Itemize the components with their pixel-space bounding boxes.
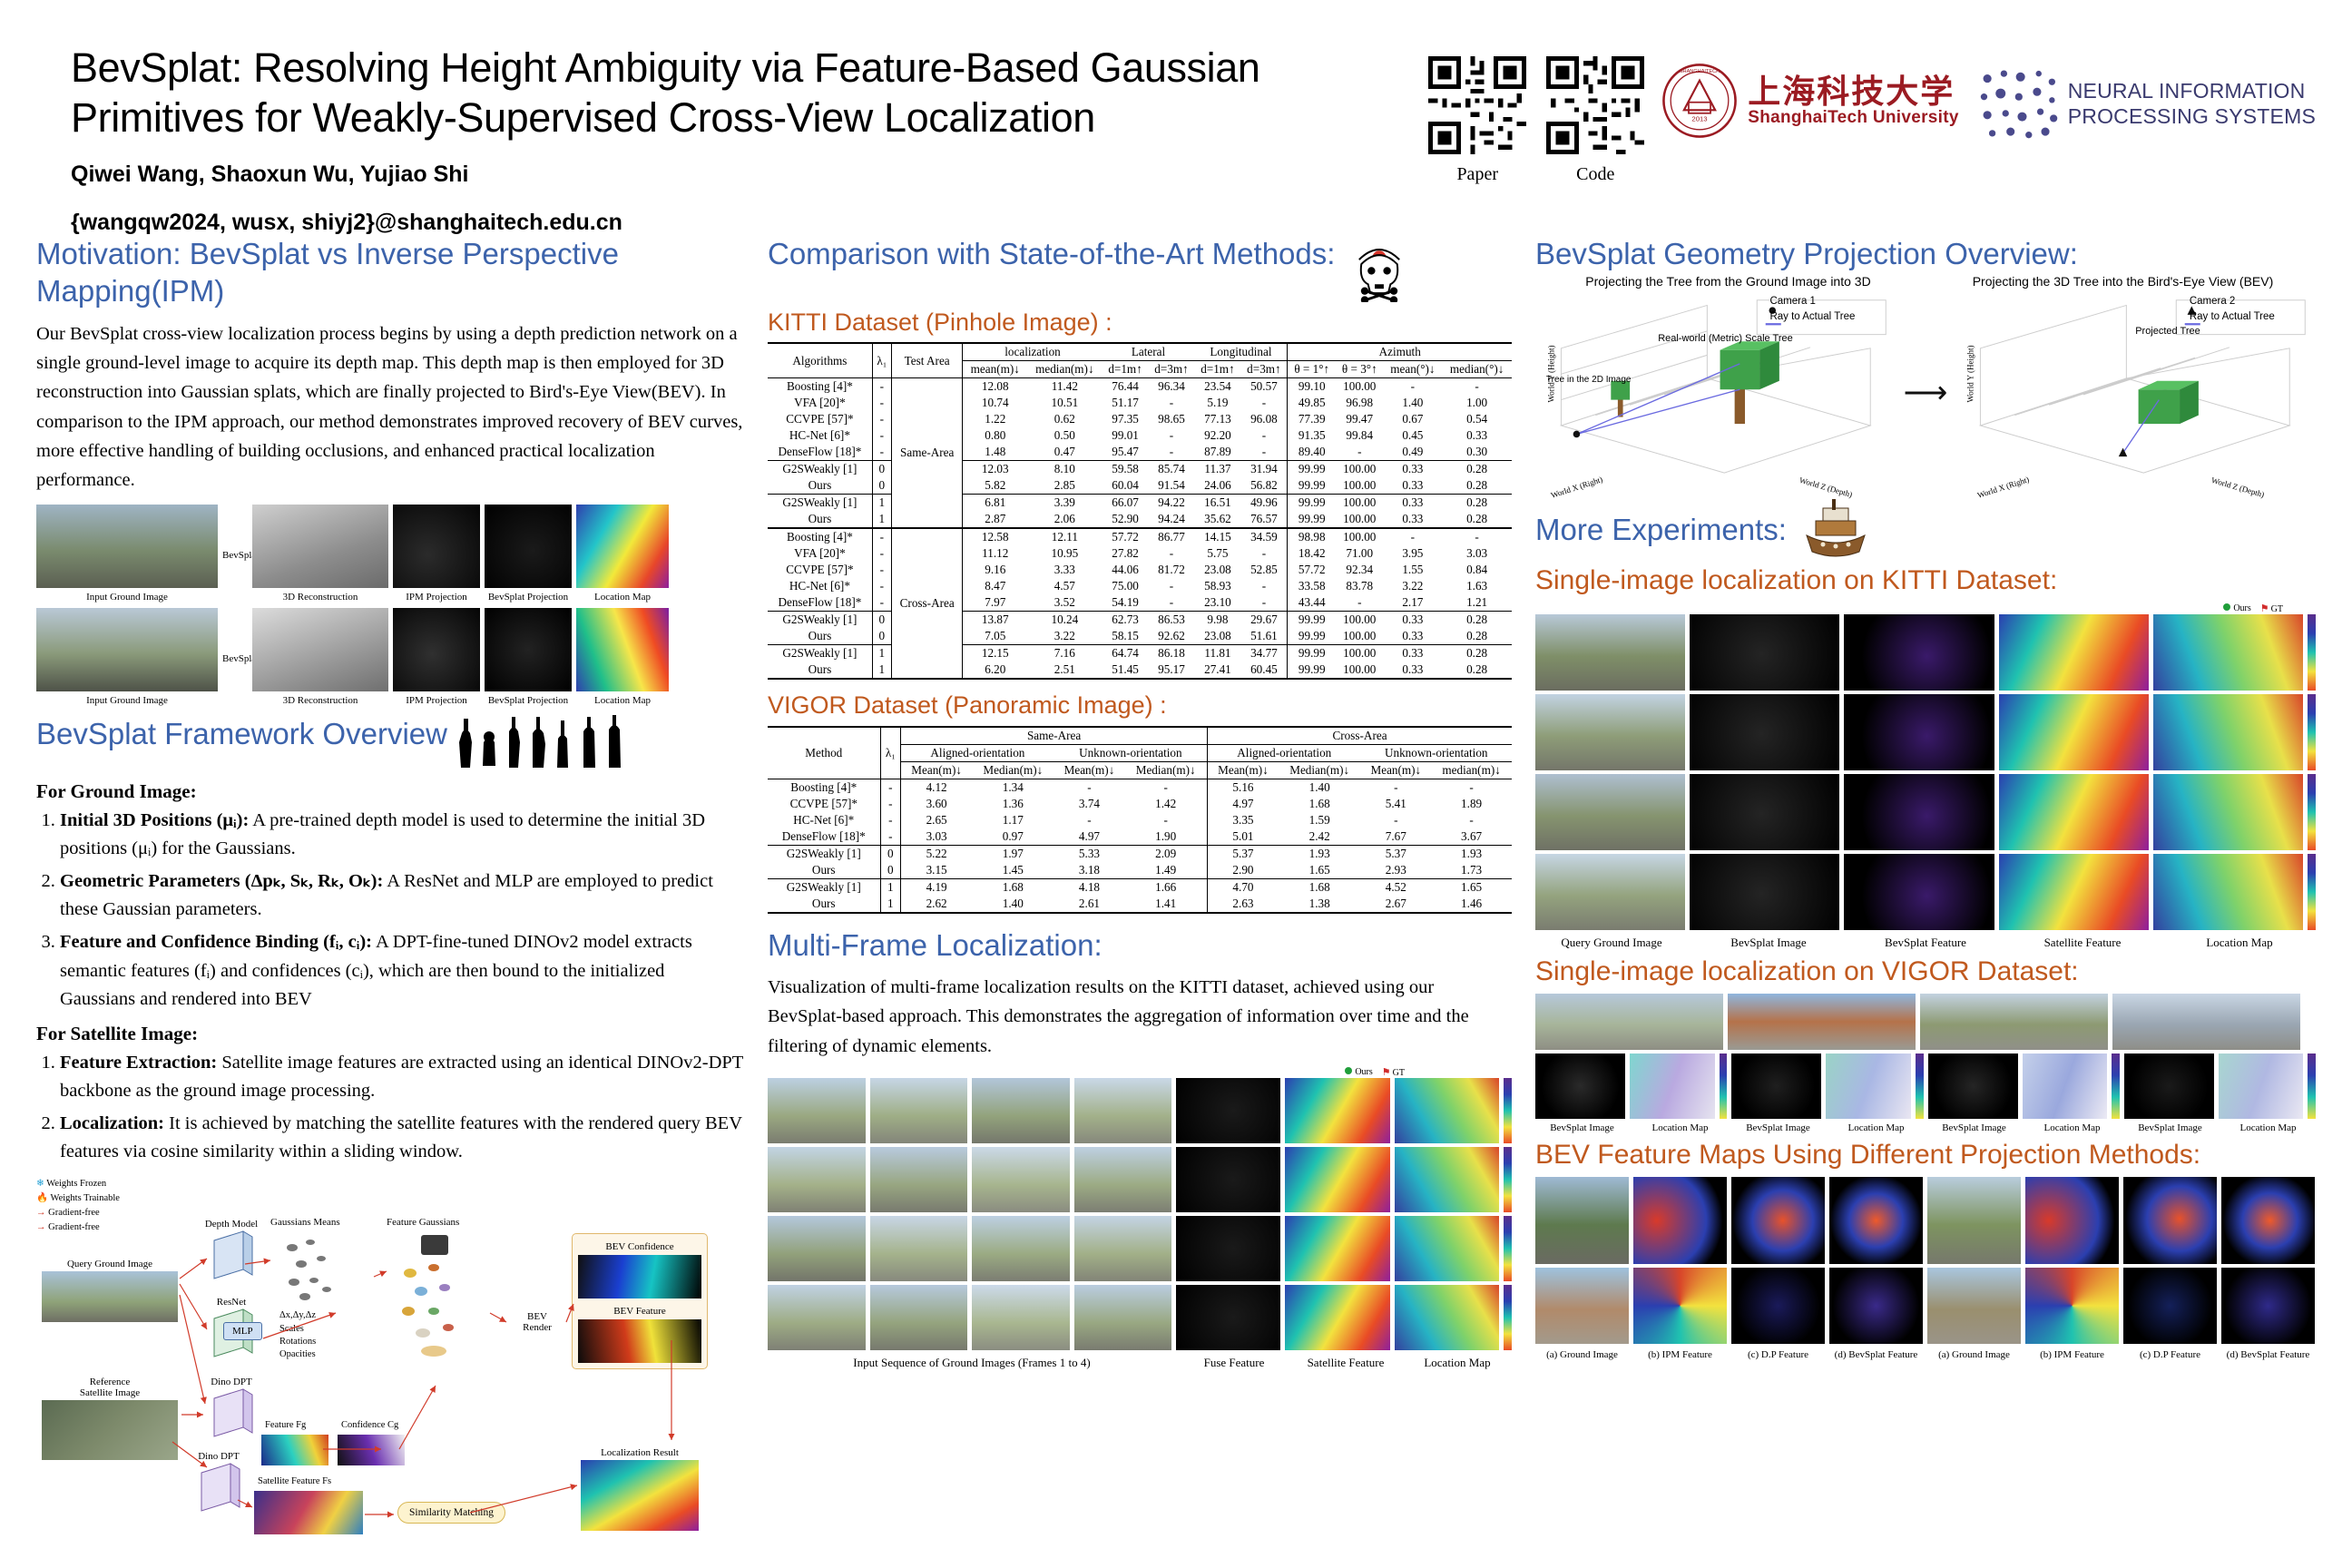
vigor-table-body: Boosting [4]*-4.121.34--5.161.40--CCVPE … xyxy=(768,779,1512,913)
location-map-thumb xyxy=(576,505,669,588)
cell-value: 1.34 xyxy=(972,779,1054,796)
cell-value: 23.54 xyxy=(1194,378,1240,396)
motivation-heading: Motivation: BevSplat vs Inverse Perspect… xyxy=(36,235,744,310)
satellite-image-steps: Feature Extraction: Satellite image feat… xyxy=(36,1049,744,1167)
multiframe-satellite-feature-thumb xyxy=(1285,1285,1389,1350)
vigor-group-unknown-1: Unknown-orientation xyxy=(1054,744,1208,761)
cell-algorithm: G2SWeakly [1] xyxy=(768,461,872,478)
kitti-group-longitudinal: Longitudinal xyxy=(1194,343,1287,361)
neurips-dot-pattern-icon xyxy=(1975,65,2059,142)
kitti-colorbar xyxy=(2308,614,2316,691)
cell-value: 100.00 xyxy=(1336,511,1384,528)
bev-method-thumb xyxy=(1829,1177,1923,1264)
university-name-cn: 上海科技大学 xyxy=(1748,74,1959,109)
cell-value: 99.99 xyxy=(1288,511,1336,528)
satellite-image-subheading: For Satellite Image: xyxy=(36,1023,744,1045)
cap-query-ground: Query Ground Image xyxy=(1535,936,1688,950)
cell-lambda: 1 xyxy=(880,878,901,896)
cell-value: 52.90 xyxy=(1102,511,1149,528)
multiframe-fuse-feature-thumb xyxy=(1176,1078,1280,1143)
vigor-table-heading: VIGOR Dataset (Panoramic Image) : xyxy=(768,691,1512,720)
neurips-line1: NEURAL INFORMATION xyxy=(2068,78,2316,103)
cell-value: 34.77 xyxy=(1240,645,1288,662)
cell-value: 5.41 xyxy=(1360,796,1431,812)
kitti-bevsplat-image-thumb xyxy=(1690,854,1839,930)
cell-value: 91.35 xyxy=(1288,427,1336,444)
multiframe-satellite-feature-thumb xyxy=(1285,1147,1389,1212)
cell-value: 1.59 xyxy=(1279,812,1361,828)
vigor-cap-4: BevSplat Image xyxy=(1927,1122,2021,1133)
vigor-bevsplat-image-thumb xyxy=(2124,1053,2214,1119)
cell-value: 9.16 xyxy=(963,562,1027,578)
cell-value: 12.03 xyxy=(963,461,1027,478)
cell-value: 86.77 xyxy=(1149,528,1195,545)
cell-value: - xyxy=(1336,594,1384,612)
cell-method: Boosting [4]* xyxy=(768,779,880,796)
multiframe-ground-thumb xyxy=(1074,1216,1172,1281)
kitti-bevsplat-image-thumb xyxy=(1690,774,1839,850)
cell-value: 1.93 xyxy=(1431,845,1512,862)
cell-algorithm: VFA [20]* xyxy=(768,395,872,411)
cell-value: 5.16 xyxy=(1208,779,1279,796)
cell-value: - xyxy=(1240,444,1288,461)
crowd-silhouette-icon xyxy=(456,715,629,771)
cell-value: 1.41 xyxy=(1124,896,1207,913)
cell-value: 100.00 xyxy=(1336,378,1384,396)
cell-value: 6.20 xyxy=(963,661,1027,679)
multiframe-fuse-feature-thumb xyxy=(1176,1216,1280,1281)
vigor-cap-3: Location Map xyxy=(1829,1122,1923,1133)
neurips-text-block: NEURAL INFORMATION PROCESSING SYSTEMS xyxy=(2068,78,2316,129)
kitti-sub-theta1: θ = 1°↑ xyxy=(1288,361,1336,378)
table-row: HC-Net [6]*-8.474.5775.00-58.93-33.5883.… xyxy=(768,578,1512,594)
table-row: Ours12.621.402.611.412.631.382.671.46 xyxy=(768,896,1512,913)
table-row: CCVPE [57]*-3.601.363.741.424.971.685.41… xyxy=(768,796,1512,812)
cell-value: 96.98 xyxy=(1336,395,1384,411)
multiframe-row xyxy=(768,1078,1512,1143)
cell-value: 71.00 xyxy=(1336,545,1384,562)
table-row: G2SWeakly [1]16.813.3966.0794.2216.5149.… xyxy=(768,495,1512,512)
cell-method: G2SWeakly [1] xyxy=(768,845,880,862)
cell-value: 3.67 xyxy=(1431,828,1512,846)
cell-value: 99.01 xyxy=(1102,427,1149,444)
cell-value: 60.04 xyxy=(1102,477,1149,495)
geometry-label-projected-tree: Projected Tree xyxy=(2135,326,2200,337)
cell-value: 54.19 xyxy=(1102,594,1149,612)
cell-method: G2SWeakly [1] xyxy=(768,878,880,896)
cell-value: 0.28 xyxy=(1442,461,1512,478)
multiframe-ground-thumb xyxy=(1074,1285,1172,1350)
cell-value: 7.16 xyxy=(1027,645,1102,662)
author-emails: {wangqw2024, wusx, shiyj2}@shanghaitech.… xyxy=(71,210,1428,236)
header-title-block: BevSplat: Resolving Height Ambiguity via… xyxy=(36,31,1428,236)
cell-value: 11.37 xyxy=(1194,461,1240,478)
cell-value: 51.17 xyxy=(1102,395,1149,411)
table-row: Ours05.822.8560.0491.5424.0656.8299.9910… xyxy=(768,477,1512,495)
cell-lambda: - xyxy=(872,378,891,396)
cell-value: 85.74 xyxy=(1149,461,1195,478)
cell-lambda: 0 xyxy=(872,461,891,478)
geometry-legend-right-ray: Ray to Actual Tree xyxy=(2190,309,2275,325)
qr-paper-label: Paper xyxy=(1428,164,1526,185)
cell-value: - xyxy=(1149,427,1195,444)
ground-step-3: Feature and Confidence Binding (fᵢ, cᵢ):… xyxy=(60,928,744,1013)
kitti-colorbar xyxy=(2308,694,2316,770)
cell-value: 1.45 xyxy=(972,862,1054,879)
caption-3d-reconstruction: 3D Reconstruction xyxy=(252,592,388,603)
table-row: VFA [20]*-11.1210.9527.82-5.75-18.4271.0… xyxy=(768,545,1512,562)
cell-lambda: - xyxy=(872,411,891,427)
cell-value: 16.51 xyxy=(1194,495,1240,512)
cell-algorithm: HC-Net [6]* xyxy=(768,578,872,594)
multiframe-ground-thumb xyxy=(768,1285,866,1350)
geometry-legend-right-camera: Camera 2 xyxy=(2190,294,2275,309)
cell-value: 4.57 xyxy=(1027,578,1102,594)
vigor-single-heading: Single-image localization on VIGOR Datas… xyxy=(1535,955,2316,988)
cell-value: 99.99 xyxy=(1288,661,1336,679)
pipeline-diagram: ❄ Weights Frozen 🔥 Weights Trainable → G… xyxy=(36,1177,744,1540)
cell-value: 1.65 xyxy=(1431,878,1512,896)
cell-value: 94.24 xyxy=(1149,511,1195,528)
multiframe-colorbar xyxy=(1504,1078,1512,1143)
cell-value: 77.13 xyxy=(1194,411,1240,427)
kitti-sub-az-mean: mean(°)↓ xyxy=(1384,361,1443,378)
vigor-pano-row xyxy=(1535,994,2316,1050)
cell-value: 0.62 xyxy=(1027,411,1102,427)
cap-bevsplat-image: BevSplat Image xyxy=(1692,936,1845,950)
satellite-step-2: Localization: It is achieved by matching… xyxy=(60,1110,744,1166)
university-name-block: 上海科技大学 ShanghaiTech University xyxy=(1748,74,1959,127)
cell-value: 2.67 xyxy=(1360,896,1431,913)
kitti-single-row xyxy=(1535,854,2316,930)
kitti-sub-lon-d3: d=3m↑ xyxy=(1240,361,1288,378)
cell-value: 66.07 xyxy=(1102,495,1149,512)
cell-value: - xyxy=(1240,594,1288,612)
caption-location-map-2: Location Map xyxy=(576,695,669,706)
kitti-colorbar xyxy=(2308,854,2316,930)
cell-value: 0.67 xyxy=(1384,411,1443,427)
cell-value: 94.22 xyxy=(1149,495,1195,512)
qr-code-icon[interactable] xyxy=(1546,56,1644,154)
caption-bevsplat-projection: BevSplat Projection xyxy=(485,592,572,603)
cell-value: 2.06 xyxy=(1027,511,1102,528)
qr-code[interactable]: Code xyxy=(1546,56,1644,185)
cell-value: 100.00 xyxy=(1336,495,1384,512)
satellite-step-1-title: Feature Extraction: xyxy=(60,1053,217,1073)
cell-value: - xyxy=(1240,578,1288,594)
kitti-bevsplat-feature-thumb xyxy=(1844,774,1994,850)
multiframe-location-map-thumb xyxy=(1395,1147,1499,1212)
cell-value: 23.10 xyxy=(1194,594,1240,612)
multiframe-row xyxy=(768,1147,1512,1212)
cell-value: 3.60 xyxy=(901,796,972,812)
cell-value: 62.73 xyxy=(1102,612,1149,629)
cell-algorithm: Boosting [4]* xyxy=(768,378,872,396)
cell-value: 33.58 xyxy=(1288,578,1336,594)
cell-lambda: 1 xyxy=(872,495,891,512)
cell-method: Ours xyxy=(768,896,880,913)
kitti-col-test-area: Test Area xyxy=(891,343,963,378)
cell-value: 49.85 xyxy=(1288,395,1336,411)
caption-ipm-projection-2: IPM Projection xyxy=(393,695,480,706)
multiframe-colorbar xyxy=(1504,1285,1512,1350)
cell-value: 0.28 xyxy=(1442,645,1512,662)
cell-value: 57.72 xyxy=(1102,528,1149,545)
cell-value: - xyxy=(1054,812,1125,828)
table-row: Boosting [4]*-Cross-Area12.5812.1157.728… xyxy=(768,528,1512,545)
caption-ipm-projection: IPM Projection xyxy=(393,592,480,603)
kitti-sub-theta3: θ = 3°↑ xyxy=(1336,361,1384,378)
university-seal-icon: 2013 SHANGHAITECH xyxy=(1661,62,1739,140)
qr-paper[interactable]: Paper xyxy=(1428,56,1526,185)
cell-value: 100.00 xyxy=(1336,661,1384,679)
pirate-skull-icon xyxy=(1346,235,1413,302)
geometry-legend-left-camera: Camera 1 xyxy=(1769,294,1855,309)
multiframe-ground-thumb xyxy=(870,1216,968,1281)
cell-lambda: - xyxy=(872,562,891,578)
bevm-cap-1: (b) IPM Feature xyxy=(1633,1349,1727,1360)
kitti-legend-gt-label: GT xyxy=(2271,604,2283,614)
cell-value: 0.33 xyxy=(1384,495,1443,512)
bev-method-thumb xyxy=(1829,1268,1923,1344)
vigor-metric-2: Mean(m)↓ xyxy=(1054,761,1125,779)
cell-value: 51.61 xyxy=(1240,628,1288,645)
cell-lambda: 1 xyxy=(872,645,891,662)
cap-location-map: Location Map xyxy=(2163,936,2316,950)
cell-value: 1.89 xyxy=(1431,796,1512,812)
vigor-colorbar xyxy=(1916,1053,1924,1119)
cell-value: 2.61 xyxy=(1054,896,1125,913)
table-row: Ours16.202.5151.4595.1727.4160.4599.9910… xyxy=(768,661,1512,679)
cell-lambda: - xyxy=(872,444,891,461)
kitti-group-lateral: Lateral xyxy=(1102,343,1195,361)
legend-ours-label: Ours xyxy=(1355,1067,1372,1077)
cell-value: 11.12 xyxy=(963,545,1027,562)
cell-value: 8.47 xyxy=(963,578,1027,594)
bev-methods-row xyxy=(1535,1268,2316,1344)
cell-value: 1.97 xyxy=(972,845,1054,862)
cell-value: 58.93 xyxy=(1194,578,1240,594)
vigor-bevsplat-image-thumb xyxy=(1928,1053,2018,1119)
cell-value: 5.33 xyxy=(1054,845,1125,862)
arrow-right-big-icon: ⟶ xyxy=(1904,375,1948,411)
kitti-single-rows xyxy=(1535,614,2316,930)
cell-value: 58.15 xyxy=(1102,628,1149,645)
author-list: Qiwei Wang, Shaoxun Wu, Yujiao Shi xyxy=(71,162,1428,188)
cell-lambda: 0 xyxy=(880,845,901,862)
kitti-bevsplat-feature-thumb xyxy=(1844,854,1994,930)
cell-value: 1.40 xyxy=(1384,395,1443,411)
cell-value: 11.81 xyxy=(1194,645,1240,662)
cell-value: 76.57 xyxy=(1240,511,1288,528)
multiframe-colorbar xyxy=(1504,1147,1512,1212)
cell-value: - xyxy=(1149,444,1195,461)
cell-method: CCVPE [57]* xyxy=(768,796,880,812)
bev-method-thumb xyxy=(2123,1177,2217,1264)
cell-value: 6.81 xyxy=(963,495,1027,512)
geometry-figure: Camera 1 Ray to Actual Tree Real-world (… xyxy=(1535,289,2316,497)
cell-value: 98.65 xyxy=(1149,411,1195,427)
multiframe-fuse-feature-thumb xyxy=(1176,1147,1280,1212)
qr-paper-icon[interactable] xyxy=(1428,56,1526,154)
cell-value: 0.28 xyxy=(1442,661,1512,679)
bevm-cap-3: (d) BevSplat Feature xyxy=(1829,1349,1923,1360)
vigor-metric-1: Median(m)↓ xyxy=(972,761,1054,779)
kitti-location-map-thumb xyxy=(2153,774,2303,850)
multiframe-ground-thumb xyxy=(972,1285,1070,1350)
multiframe-satellite-feature-thumb xyxy=(1285,1216,1389,1281)
caption-input-ground-image-2: Input Ground Image xyxy=(36,695,218,706)
multiframe-fuse-feature-thumb xyxy=(1176,1285,1280,1350)
cell-value: - xyxy=(1336,444,1384,461)
cell-algorithm: G2SWeakly [1] xyxy=(768,645,872,662)
multiframe-ground-thumb xyxy=(1074,1147,1172,1212)
cell-value: 12.08 xyxy=(963,378,1027,396)
cell-value: 23.08 xyxy=(1194,628,1240,645)
kitti-cross-area-body: Boosting [4]*-Cross-Area12.5812.1157.728… xyxy=(768,528,1512,679)
poster-header: BevSplat: Resolving Height Ambiguity via… xyxy=(36,31,2316,235)
cell-value: 59.58 xyxy=(1102,461,1149,478)
kitti-legend-gt: ⚑GT xyxy=(2260,603,2283,614)
location-map-thumb-2 xyxy=(576,608,669,691)
cell-method: DenseFlow [18]* xyxy=(768,828,880,846)
cell-value: 0.33 xyxy=(1384,477,1443,495)
ground-step-1-title: Initial 3D Positions (μᵢ): xyxy=(60,810,249,830)
cell-value: - xyxy=(1054,779,1125,796)
pirate-ship-icon xyxy=(1799,499,1872,559)
vigor-metric-4: Mean(m)↓ xyxy=(1208,761,1279,779)
vigor-cap-0: BevSplat Image xyxy=(1535,1122,1629,1133)
cell-value: 3.22 xyxy=(1027,628,1102,645)
cell-value: 3.03 xyxy=(1442,545,1512,562)
cell-value: 31.94 xyxy=(1240,461,1288,478)
vigor-results-table: Method λ₁ Same-Area Cross-Area Aligned-o… xyxy=(768,726,1512,914)
cell-value: - xyxy=(1124,812,1207,828)
cell-value: 0.28 xyxy=(1442,612,1512,629)
cell-value: 0.80 xyxy=(963,427,1027,444)
cell-value: 3.74 xyxy=(1054,796,1125,812)
cell-value: - xyxy=(1149,578,1195,594)
cell-value: 75.00 xyxy=(1102,578,1149,594)
vigor-metric-3: Median(m)↓ xyxy=(1124,761,1207,779)
kitti-satellite-feature-thumb xyxy=(1999,614,2149,691)
cell-value: 1.40 xyxy=(1279,779,1361,796)
cell-value: 3.15 xyxy=(901,862,972,879)
cell-algorithm: Boosting [4]* xyxy=(768,528,872,545)
cell-value: - xyxy=(1384,528,1443,545)
legend-gt-marker: ⚑GT xyxy=(1382,1066,1405,1078)
cell-value: - xyxy=(1149,594,1195,612)
cell-value: 95.47 xyxy=(1102,444,1149,461)
cell-value: 3.35 xyxy=(1208,812,1279,828)
cell-value: 100.00 xyxy=(1336,612,1384,629)
cell-value: 5.37 xyxy=(1360,845,1431,862)
multiframe-colorbar xyxy=(1504,1216,1512,1281)
cell-value: 99.99 xyxy=(1288,461,1336,478)
table-row: DenseFlow [18]*-7.973.5254.19-23.10-43.4… xyxy=(768,594,1512,612)
cell-value: 100.00 xyxy=(1336,528,1384,545)
cell-value: 4.52 xyxy=(1360,878,1431,896)
ipm-projection-thumb xyxy=(393,505,480,588)
caption-3d-reconstruction-2: 3D Reconstruction xyxy=(252,695,388,706)
vigor-colorbar xyxy=(1720,1053,1728,1119)
multiframe-ground-thumb xyxy=(768,1078,866,1143)
kitti-results-table: Algorithms λ₁ Test Area localization Lat… xyxy=(768,342,1512,680)
cell-value: 8.10 xyxy=(1027,461,1102,478)
cell-value: 7.67 xyxy=(1360,828,1431,846)
cell-value: 5.19 xyxy=(1194,395,1240,411)
cell-algorithm: HC-Net [6]* xyxy=(768,427,872,444)
bev-methods-row xyxy=(1535,1177,2316,1264)
cell-value: 89.40 xyxy=(1288,444,1336,461)
vigor-group-aligned-1: Aligned-orientation xyxy=(901,744,1054,761)
vigor-single-figure: BevSplat Image Location Map BevSplat Ima… xyxy=(1535,994,2316,1133)
cell-value: - xyxy=(1442,378,1512,396)
cell-value: 99.84 xyxy=(1336,427,1384,444)
cell-value: 0.97 xyxy=(972,828,1054,846)
cell-value: 0.28 xyxy=(1442,495,1512,512)
cell-value: 1.65 xyxy=(1279,862,1361,879)
bev-methods-heading: BEV Feature Maps Using Different Project… xyxy=(1535,1139,2316,1171)
cell-value: 0.33 xyxy=(1384,645,1443,662)
table-row: DenseFlow [18]*-3.030.974.971.905.012.42… xyxy=(768,828,1512,846)
cell-value: 1.38 xyxy=(1279,896,1361,913)
vigor-cap-6: BevSplat Image xyxy=(2123,1122,2217,1133)
cell-value: 24.06 xyxy=(1194,477,1240,495)
cell-value: 50.57 xyxy=(1240,378,1288,396)
cell-lambda: 1 xyxy=(880,896,901,913)
cell-value: 5.75 xyxy=(1194,545,1240,562)
kitti-col-algorithms: Algorithms xyxy=(768,343,872,378)
cell-value: 1.40 xyxy=(972,896,1054,913)
vigor-pano-4 xyxy=(2112,994,2300,1050)
bevm-cap-6: (c) D.P Feature xyxy=(2123,1349,2217,1360)
vigor-metric-7: median(m)↓ xyxy=(1431,761,1512,779)
bev-method-thumb xyxy=(2025,1177,2119,1264)
motivation-figure: BevSplat Input Ground Image xyxy=(36,505,744,706)
multiframe-figure: Ours ⚑GT Input Sequence of Ground Images… xyxy=(768,1066,1512,1370)
cell-value: 99.99 xyxy=(1288,645,1336,662)
cell-value: 91.54 xyxy=(1149,477,1195,495)
cell-value: 3.95 xyxy=(1384,545,1443,562)
cell-value: 35.62 xyxy=(1194,511,1240,528)
bevm-cap-4: (a) Ground Image xyxy=(1927,1349,2021,1360)
cell-lambda: - xyxy=(872,594,891,612)
bev-methods-figure: (a) Ground Image (b) IPM Feature (c) D.P… xyxy=(1535,1177,2316,1360)
multiframe-ground-thumb xyxy=(768,1147,866,1212)
kitti-sub-lon-d1: d=1m↑ xyxy=(1194,361,1240,378)
cell-value: 29.67 xyxy=(1240,612,1288,629)
ground-image-subheading: For Ground Image: xyxy=(36,780,744,803)
cell-value: 1.93 xyxy=(1279,845,1361,862)
kitti-colorbar xyxy=(2308,774,2316,850)
column-middle: Comparison with State-of-the-Art Methods… xyxy=(768,235,1512,1510)
cell-value: 0.33 xyxy=(1384,511,1443,528)
cell-value: 3.52 xyxy=(1027,594,1102,612)
bevm-cap-2: (c) D.P Feature xyxy=(1731,1349,1825,1360)
kitti-bevsplat-image-thumb xyxy=(1690,614,1839,691)
cell-value: 27.41 xyxy=(1194,661,1240,679)
bev-method-thumb xyxy=(1633,1268,1727,1344)
svg-text:SHANGHAITECH: SHANGHAITECH xyxy=(1680,69,1720,74)
cell-value: 1.49 xyxy=(1124,862,1207,879)
cell-value: 3.39 xyxy=(1027,495,1102,512)
qr-code-label: Code xyxy=(1546,164,1644,185)
cell-value: 43.44 xyxy=(1288,594,1336,612)
cell-value: 1.90 xyxy=(1124,828,1207,846)
input-ground-image-thumb-2 xyxy=(36,608,218,691)
vigor-group-cross-area: Cross-Area xyxy=(1208,727,1512,745)
